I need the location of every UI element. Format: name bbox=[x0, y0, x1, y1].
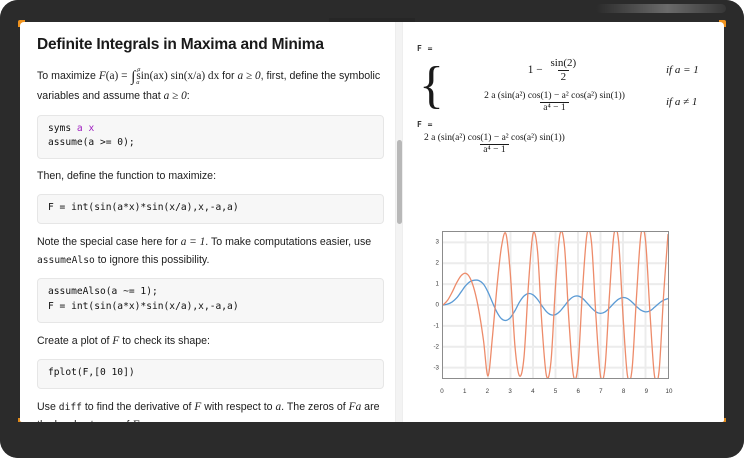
device-frame: Definite Integrals in Maxima and Minima … bbox=[0, 0, 744, 458]
output-label-2: F = bbox=[417, 120, 712, 129]
code-block-fplot[interactable]: fplot(F,[0 10]) bbox=[37, 359, 384, 389]
code-line-F-int: F = int(sin(a*x)*sin(x/a),x,-a,a) bbox=[48, 202, 239, 213]
plot-area bbox=[442, 231, 669, 379]
fraction-main-expression: 2 a (sin(a²) cos(1) − a² cos(a²) sin(1))… bbox=[481, 91, 628, 114]
plot-curves bbox=[443, 232, 668, 378]
y-tick-label: -1 bbox=[423, 323, 439, 330]
screen: Definite Integrals in Maxima and Minima … bbox=[20, 22, 724, 422]
code-line-assume: assume(a >= 0); bbox=[48, 137, 135, 148]
x-tick-label: 8 bbox=[622, 388, 625, 395]
special-case-text-c: to ignore this possibility. bbox=[95, 254, 210, 266]
integrand: sin(ax) sin(x/a) dx bbox=[136, 70, 219, 82]
intro-text-d: : bbox=[187, 90, 190, 102]
intro-text-b: for bbox=[219, 70, 237, 82]
piecewise-condition-1: if a = 1 bbox=[660, 64, 712, 76]
x-tick-label: 9 bbox=[645, 388, 648, 395]
derivative-text-d: . The zeros of bbox=[281, 401, 349, 413]
intro-text-a: To maximize bbox=[37, 70, 99, 82]
code-block-define-F[interactable]: F = int(sin(a*x)*sin(x/a),x,-a,a) bbox=[37, 194, 384, 224]
x-tick-label: 2 bbox=[486, 388, 489, 395]
x-tick-label: 7 bbox=[599, 388, 602, 395]
code-line-fplot: fplot(F,[0 10]) bbox=[48, 367, 135, 378]
eq2-denominator: a⁴ − 1 bbox=[480, 144, 508, 156]
code-line-assumealso: assumeAlso(a ~= 1); bbox=[48, 286, 158, 297]
special-case-text-a: Note the special case here for bbox=[37, 236, 181, 248]
piecewise-expr-2: 2 a (sin(a²) cos(1) − a² cos(a²) sin(1))… bbox=[449, 91, 660, 114]
x-tick-label: 10 bbox=[666, 388, 673, 395]
output-pane: F = { 1 − sin(2) 2 if a = 1 bbox=[402, 22, 724, 422]
integral-sign: ∫-aa bbox=[131, 65, 135, 89]
derivative-text-b: to find the derivative of bbox=[82, 401, 194, 413]
bottom-bezel bbox=[0, 422, 744, 458]
create-plot-paragraph: Create a plot of F to check its shape: bbox=[37, 332, 384, 350]
fraction-numerator: sin(2) bbox=[548, 57, 580, 70]
code-var-a: a bbox=[77, 123, 83, 134]
figure-output[interactable]: 012345678910 -3-2-10123 bbox=[421, 227, 673, 399]
condition-a-geq-0-second: a ≥ 0 bbox=[164, 90, 187, 102]
piecewise-condition-2: if a ≠ 1 bbox=[660, 96, 712, 108]
special-case-text-b: . To make computations easier, use bbox=[205, 236, 371, 248]
fraction-denominator-2: a⁴ − 1 bbox=[540, 102, 568, 114]
create-plot-text-a: Create a plot of bbox=[37, 335, 112, 347]
piecewise-lead-1: 1 − bbox=[528, 64, 543, 76]
x-tick-label: 5 bbox=[554, 388, 557, 395]
y-tick-label: 1 bbox=[423, 280, 439, 287]
derivative-paragraph: Use diff to find the derivative of F wit… bbox=[37, 398, 384, 422]
code-block-assume-also[interactable]: assumeAlso(a ~= 1); F = int(sin(a*x)*sin… bbox=[37, 278, 384, 323]
equation-2-result: 2 a (sin(a²) cos(1) − a² cos(a²) sin(1))… bbox=[419, 133, 712, 156]
y-tick-label: -3 bbox=[423, 365, 439, 372]
symbol-F: F bbox=[99, 70, 106, 82]
derivative-text-a: Use bbox=[37, 401, 59, 413]
y-tick-label: 2 bbox=[423, 259, 439, 266]
fraction-equation-2: 2 a (sin(a²) cos(1) − a² cos(a²) sin(1))… bbox=[421, 133, 568, 156]
x-tick-label: 6 bbox=[576, 388, 579, 395]
fraction-sin2-over-2: sin(2) 2 bbox=[548, 57, 580, 84]
fraction-denominator: 2 bbox=[558, 70, 570, 84]
x-tick-label: 4 bbox=[531, 388, 534, 395]
y-tick-label: 0 bbox=[423, 302, 439, 309]
intro-paren: (a) = bbox=[106, 70, 131, 82]
inline-code-assumealso: assumeAlso bbox=[37, 255, 95, 266]
eq2-numerator: 2 a (sin(a²) cos(1) − a² cos(a²) sin(1)) bbox=[421, 133, 568, 144]
code-line-F-int-2: F = int(sin(a*x)*sin(x/a),x,-a,a) bbox=[48, 301, 239, 312]
symbol-Fa: Fa bbox=[349, 401, 362, 413]
code-keyword-syms: syms bbox=[48, 123, 77, 134]
piecewise-expr-1: 1 − sin(2) 2 bbox=[449, 57, 660, 84]
derivative-text-c: with respect to bbox=[201, 401, 275, 413]
output-label-1: F = bbox=[417, 44, 712, 53]
code-block-syms[interactable]: syms a x assume(a >= 0); bbox=[37, 115, 384, 160]
special-case-paragraph: Note the special case here for a = 1. To… bbox=[37, 233, 384, 268]
page-title: Definite Integrals in Maxima and Minima bbox=[37, 36, 384, 54]
create-plot-text-b: to check its shape: bbox=[119, 335, 210, 347]
screen-glare bbox=[596, 4, 726, 13]
code-var-x: x bbox=[88, 123, 94, 134]
editor-scrollbar[interactable] bbox=[395, 22, 402, 422]
piecewise-row-1: 1 − sin(2) 2 if a = 1 bbox=[449, 57, 712, 84]
piecewise-row-2: 2 a (sin(a²) cos(1) − a² cos(a²) sin(1))… bbox=[449, 91, 712, 114]
fraction-numerator-2: 2 a (sin(a²) cos(1) − a² cos(a²) sin(1)) bbox=[481, 91, 628, 102]
x-tick-label: 1 bbox=[463, 388, 466, 395]
intro-paragraph: To maximize F(a) = ∫-aasin(ax) sin(x/a) … bbox=[37, 63, 384, 106]
piecewise-result: { 1 − sin(2) 2 if a = 1 bbox=[419, 57, 712, 114]
y-tick-label: 3 bbox=[423, 238, 439, 245]
live-script-editor-pane[interactable]: Definite Integrals in Maxima and Minima … bbox=[20, 22, 402, 422]
condition-a-geq-0: a ≥ 0 bbox=[237, 70, 260, 82]
x-tick-label: 3 bbox=[508, 388, 511, 395]
left-brace: { bbox=[419, 67, 444, 104]
y-tick-label: -2 bbox=[423, 344, 439, 351]
define-function-paragraph: Then, define the function to maximize: bbox=[37, 168, 384, 185]
inline-code-diff: diff bbox=[59, 402, 82, 413]
integral-upper-limit: a bbox=[137, 65, 140, 76]
condition-a-eq-1: a = 1 bbox=[181, 236, 206, 248]
x-tick-label: 0 bbox=[440, 388, 443, 395]
